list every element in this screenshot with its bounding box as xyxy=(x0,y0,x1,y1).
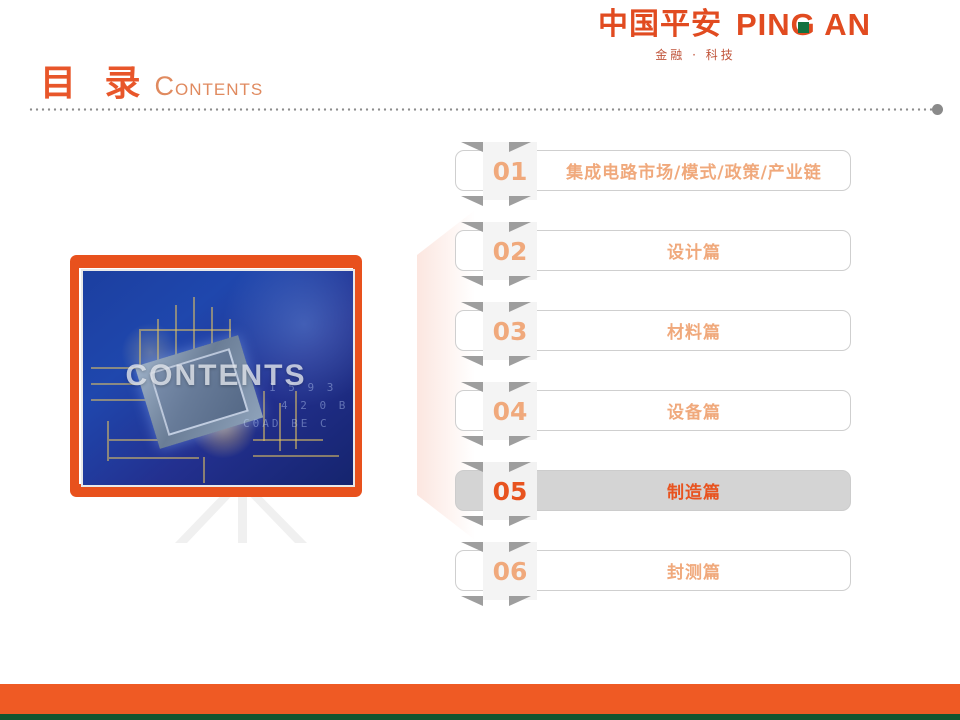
contents-item-06-label: 封测篇 xyxy=(537,550,851,591)
footer-green-band xyxy=(0,714,960,720)
screen-top-bar xyxy=(70,255,362,268)
contents-item-05-label: 制造篇 xyxy=(537,470,851,511)
projector-screen: 1 5 9 3 C0AD BE C 4 2 0 B CONTENTS xyxy=(70,255,362,497)
title-dotted-divider xyxy=(28,108,936,111)
logo-chinese-text: 中国平安 xyxy=(598,8,722,42)
footer-orange-band xyxy=(0,684,960,714)
pingan-logo: 中国平安 PING AN 金融 · 科技 xyxy=(598,8,918,66)
logo-wordmark: 中国平安 PING AN xyxy=(598,8,918,42)
contents-item-05[interactable]: 制造篇 05 xyxy=(455,468,855,514)
contents-item-02[interactable]: 设计篇 02 xyxy=(455,228,855,274)
page-title: 目 录 CONTENTS xyxy=(40,54,263,100)
badge-flap-bottom-left-icon xyxy=(461,516,483,526)
contents-item-06[interactable]: 封测篇 06 xyxy=(455,548,855,594)
logo-green-square-icon xyxy=(798,22,809,33)
slide-canvas: 中国平安 PING AN 金融 · 科技 目 录 CONTENTS xyxy=(0,0,960,720)
contents-item-02-label: 设计篇 xyxy=(537,230,851,271)
page-title-chinese: 目 录 xyxy=(40,54,149,106)
badge-flap-bottom-left-icon xyxy=(461,196,483,206)
badge-flap-bottom-left-icon xyxy=(461,276,483,286)
screen-left-frame xyxy=(70,261,79,491)
contents-item-03-label: 材料篇 xyxy=(537,310,851,351)
screen-overlay-label: CONTENTS xyxy=(81,269,351,483)
page-title-english: CONTENTS xyxy=(155,71,264,102)
contents-item-04-label: 设备篇 xyxy=(537,390,851,431)
contents-item-01[interactable]: 集成电路市场/模式/政策/产业链 01 xyxy=(455,148,855,194)
badge-flap-bottom-left-icon xyxy=(461,356,483,366)
badge-flap-bottom-left-icon xyxy=(461,596,483,606)
contents-list: 集成电路市场/模式/政策/产业链 01 设计篇 02 材料篇 03 xyxy=(455,148,855,628)
badge-flap-bottom-left-icon xyxy=(461,436,483,446)
projector-illustration: 1 5 9 3 C0AD BE C 4 2 0 B CONTENTS xyxy=(55,210,415,540)
logo-english-text: PING AN xyxy=(736,8,871,42)
contents-item-01-label: 集成电路市场/模式/政策/产业链 xyxy=(537,150,851,191)
page-title-english-initial: C xyxy=(155,71,176,101)
logo-tagline: 金融 · 科技 xyxy=(598,46,793,63)
divider-end-dot-icon xyxy=(932,104,943,115)
contents-item-03[interactable]: 材料篇 03 xyxy=(455,308,855,354)
page-title-english-rest: ONTENTS xyxy=(175,80,263,99)
contents-item-04[interactable]: 设备篇 04 xyxy=(455,388,855,434)
